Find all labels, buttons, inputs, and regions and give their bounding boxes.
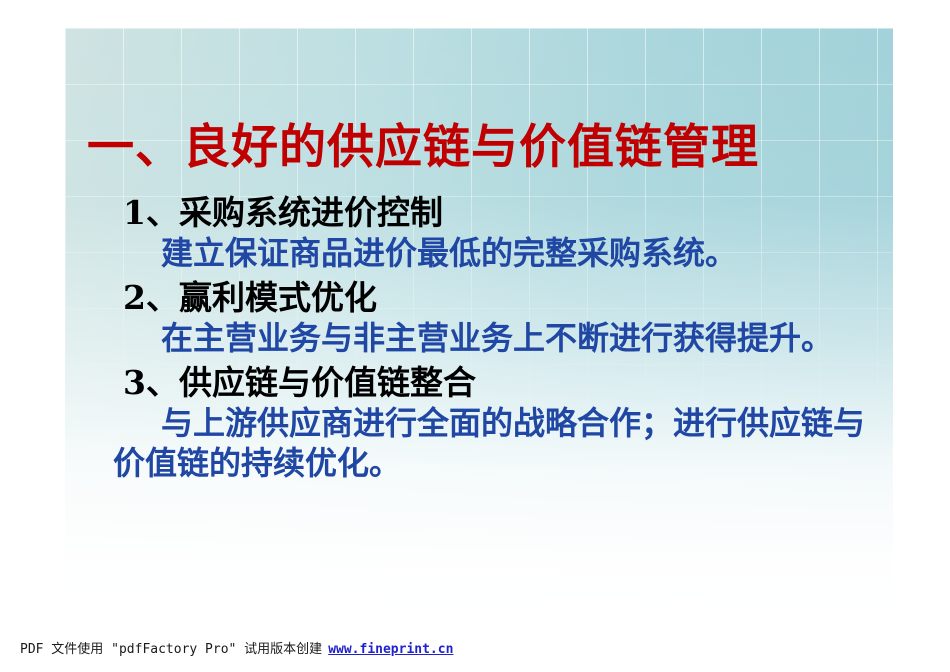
slide-title: 一、良好的供应链与价值链管理	[87, 123, 887, 172]
section-1-heading: 1、采购系统进价控制	[123, 193, 883, 233]
section-2: 2、赢利模式优化 在主营业务与非主营业务上不断进行获得提升。	[123, 278, 883, 359]
section-3: 3、供应链与价值链整合 与上游供应商进行全面的战略合作；进行供应链与价值链的持续…	[123, 363, 883, 484]
pdf-watermark-footer: PDF 文件使用 "pdfFactory Pro" 试用版本创建www.fine…	[20, 638, 453, 657]
pdf-watermark-text: PDF 文件使用 "pdfFactory Pro" 试用版本创建	[20, 642, 322, 657]
section-2-heading: 2、赢利模式优化	[123, 278, 883, 318]
fineprint-link[interactable]: www.fineprint.cn	[328, 642, 453, 657]
section-1-body: 建立保证商品进价最低的完整采购系统。	[113, 234, 883, 274]
section-1: 1、采购系统进价控制 建立保证商品进价最低的完整采购系统。	[123, 193, 883, 274]
section-3-body: 与上游供应商进行全面的战略合作；进行供应链与价值链的持续优化。	[113, 404, 883, 483]
presentation-slide: 一、良好的供应链与价值链管理 1、采购系统进价控制 建立保证商品进价最低的完整采…	[65, 28, 893, 623]
slide-body-content: 1、采购系统进价控制 建立保证商品进价最低的完整采购系统。 2、赢利模式优化 在…	[123, 193, 883, 483]
section-3-heading: 3、供应链与价值链整合	[123, 363, 883, 403]
section-2-body: 在主营业务与非主营业务上不断进行获得提升。	[113, 319, 883, 359]
